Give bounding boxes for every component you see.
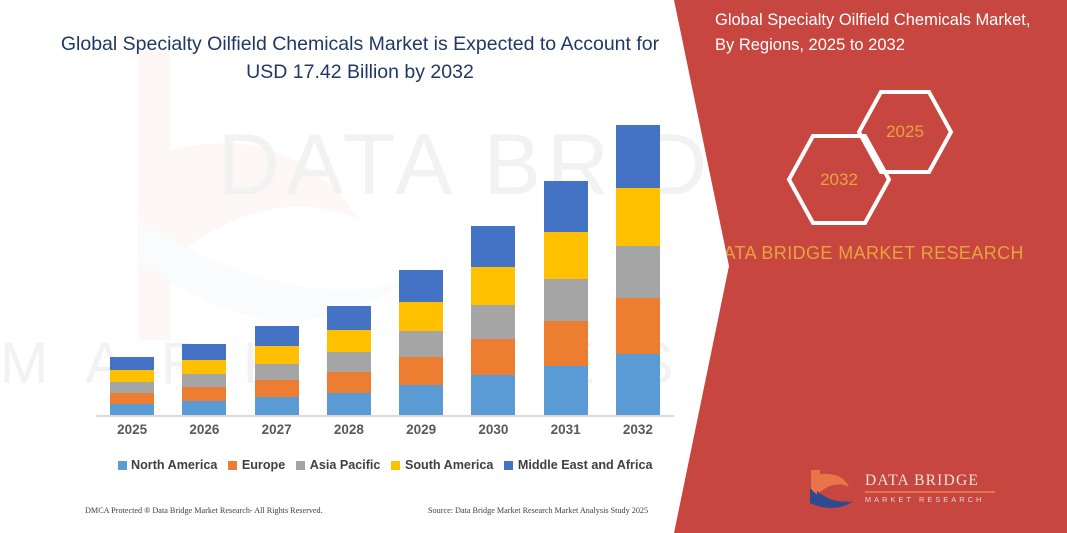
bar-segment — [110, 382, 154, 393]
legend-item[interactable]: North America — [118, 458, 218, 472]
logo-text-block: DATA BRIDGE MARKET RESEARCH — [865, 472, 1000, 504]
bar-segment — [110, 357, 154, 370]
legend-swatch-icon — [296, 461, 305, 470]
right-panel-heading: Global Specialty Oilfield Chemicals Mark… — [715, 8, 1045, 58]
bar-segment — [327, 306, 371, 330]
bar-column — [255, 326, 299, 416]
right-brand-panel: Global Specialty Oilfield Chemicals Mark… — [667, 0, 1067, 533]
x-axis-tick-2030: 2030 — [457, 422, 529, 437]
bar-segment — [327, 352, 371, 372]
bar-segment — [471, 226, 515, 267]
x-axis-tick-2028: 2028 — [313, 422, 385, 437]
legend-item[interactable]: Asia Pacific — [296, 458, 380, 472]
bar-segment — [110, 370, 154, 382]
x-axis-line — [96, 415, 674, 417]
bar-segment — [399, 357, 443, 385]
bar-segment — [255, 380, 299, 397]
bar-segment — [327, 393, 371, 416]
hexagon-badge-2032: 2032 — [785, 132, 893, 227]
footer-copyright: DMCA Protected ® Data Bridge Market Rese… — [85, 506, 323, 515]
legend-label: North America — [131, 458, 217, 472]
logo-subtitle: MARKET RESEARCH — [865, 495, 1000, 504]
bar-segment — [327, 372, 371, 393]
legend-swatch-icon — [391, 461, 400, 470]
bar-column — [110, 357, 154, 416]
bar-segment — [182, 374, 226, 387]
bar-segment — [544, 279, 588, 321]
bar-column — [399, 270, 443, 416]
x-axis-labels: 20252026202720282029203020312032 — [96, 422, 674, 446]
bar-segment — [616, 354, 660, 416]
bar-column — [182, 344, 226, 416]
bar-segment — [471, 305, 515, 339]
legend-label: Middle East and Africa — [518, 458, 653, 472]
legend-label: Europe — [242, 458, 285, 472]
bar-segment — [616, 188, 660, 246]
legend-label: Asia Pacific — [310, 458, 381, 472]
brand-name: DATA BRIDGE MARKET RESEARCH — [697, 238, 1037, 268]
bar-segment — [110, 393, 154, 404]
x-axis-tick-2025: 2025 — [96, 422, 168, 437]
legend-swatch-icon — [118, 461, 127, 470]
bar-segment — [544, 181, 588, 232]
logo-title: DATA BRIDGE — [865, 472, 1000, 490]
bar-segment — [544, 321, 588, 366]
bar-column — [471, 226, 515, 416]
hexagon-label: 2032 — [820, 170, 858, 190]
company-logo: DATA BRIDGE MARKET RESEARCH — [807, 466, 997, 514]
footer: DMCA Protected ® Data Bridge Market Rese… — [0, 506, 700, 526]
bar-segment — [544, 366, 588, 416]
bar-segment — [471, 339, 515, 375]
legend-label: South America — [405, 458, 493, 472]
x-axis-tick-2032: 2032 — [602, 422, 674, 437]
page-title: Global Specialty Oilfield Chemicals Mark… — [60, 30, 660, 86]
bar-segment — [616, 298, 660, 354]
bar-segment — [182, 387, 226, 401]
bar-segment — [471, 267, 515, 305]
bar-column — [544, 181, 588, 416]
bar-segment — [255, 364, 299, 380]
chart-legend: North AmericaEuropeAsia PacificSouth Ame… — [96, 455, 674, 475]
logo-divider — [865, 491, 995, 493]
bar-segment — [399, 302, 443, 331]
bar-segment — [327, 330, 371, 352]
bar-segment — [471, 375, 515, 416]
x-axis-tick-2027: 2027 — [241, 422, 313, 437]
bar-segment — [399, 331, 443, 357]
bar-segment — [399, 385, 443, 416]
x-axis-tick-2031: 2031 — [530, 422, 602, 437]
bar-segment — [544, 232, 588, 279]
x-axis-tick-2026: 2026 — [168, 422, 240, 437]
chart-plot-area — [96, 120, 674, 416]
bar-segment — [182, 401, 226, 416]
bar-segment — [255, 326, 299, 346]
bar-column — [616, 125, 660, 416]
x-axis-tick-2029: 2029 — [385, 422, 457, 437]
bar-segment — [182, 344, 226, 360]
legend-item[interactable]: Europe — [228, 458, 285, 472]
data-bridge-logo-icon — [807, 468, 857, 512]
legend-item[interactable]: Middle East and Africa — [504, 458, 652, 472]
chart-panel: Global Specialty Oilfield Chemicals Mark… — [0, 0, 720, 533]
bar-segment — [255, 346, 299, 364]
bar-segment — [182, 360, 226, 374]
bar-segment — [616, 246, 660, 298]
bar-segment — [399, 270, 443, 302]
legend-item[interactable]: South America — [391, 458, 493, 472]
bar-segment — [616, 125, 660, 188]
legend-swatch-icon — [228, 461, 237, 470]
bar-segment — [255, 397, 299, 416]
legend-swatch-icon — [504, 461, 513, 470]
bar-column — [327, 306, 371, 416]
footer-source: Source: Data Bridge Market Research Mark… — [428, 506, 648, 515]
hexagon-group: 2025 2032 — [745, 88, 1015, 213]
